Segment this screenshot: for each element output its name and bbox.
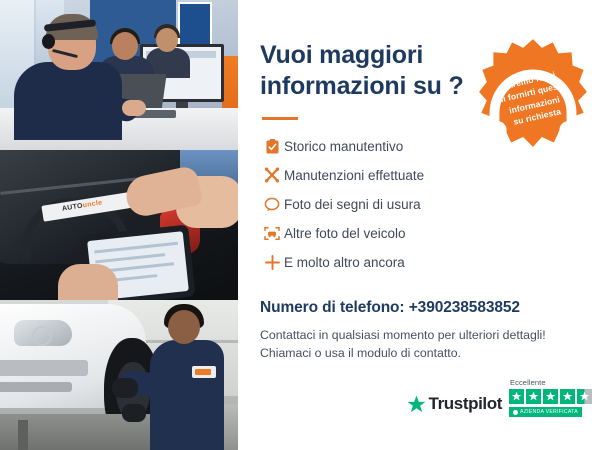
- verified-check-icon: [513, 410, 518, 415]
- phone-number[interactable]: +390238583852: [409, 299, 520, 316]
- phone-label: Numero di telefono:: [260, 299, 405, 316]
- contact-instructions: Contattaci in qualsiasi momento per ulte…: [260, 326, 578, 363]
- contact-line-2: Chiamaci o usa il modulo di contatto.: [260, 344, 578, 362]
- license-plate-inspection-photo: AUTOuncle: [0, 150, 238, 300]
- headline-line-1: Vuoi maggiori: [260, 41, 423, 69]
- star-rating: [509, 389, 592, 404]
- star-filled: [509, 389, 524, 404]
- clipboard-check-icon: [260, 136, 284, 156]
- feature-label: Foto dei segni di usura: [284, 197, 421, 212]
- verified-badge: AZIENDA VERIFICATA: [509, 407, 582, 417]
- star-filled: [560, 389, 575, 404]
- tire-service-photo: [0, 300, 238, 450]
- list-item: Foto dei segni di usura: [260, 191, 578, 217]
- wrench-cross-icon: [260, 165, 284, 185]
- contact-line-1: Contattaci in qualsiasi momento per ulte…: [260, 326, 578, 344]
- star-filled: [526, 389, 541, 404]
- feature-label: Manutenzioni effettuate: [284, 168, 424, 183]
- photo-frame-icon: [260, 223, 284, 243]
- trustpilot-star-icon: [407, 395, 426, 414]
- plate-text: AUTOuncle: [62, 199, 103, 212]
- trustpilot-logo: Trustpilot: [407, 394, 502, 417]
- list-item: Altre foto del veicolo: [260, 220, 578, 246]
- page-title: Vuoi maggiori informazioni su ?: [260, 40, 470, 101]
- photo-column: AUTOuncle: [0, 0, 238, 450]
- star-filled: [543, 389, 558, 404]
- speech-bubble-icon: [260, 194, 284, 214]
- trustpilot-widget[interactable]: Trustpilot Eccellente: [407, 378, 592, 417]
- verified-label: AZIENDA VERIFICATA: [520, 409, 578, 415]
- list-item: E molto altro ancora: [260, 249, 578, 275]
- star-half: [577, 389, 592, 404]
- feature-label: Storico manutentivo: [284, 139, 403, 154]
- rating-label: Eccellente: [510, 378, 592, 387]
- feature-label: E molto altro ancora: [284, 255, 405, 270]
- content-panel: Vuoi maggiori informazioni su ? Saremo f…: [238, 0, 600, 450]
- plus-icon: [260, 252, 284, 272]
- callout-badge: Saremo felici di fornirti queste informa…: [478, 38, 588, 148]
- trustpilot-brand: Trustpilot: [429, 394, 502, 414]
- trustpilot-rating: Eccellente: [509, 378, 592, 417]
- call-center-agents-photo: [0, 0, 238, 150]
- phone-row: Numero di telefono: +390238583852: [260, 299, 578, 317]
- title-divider: [262, 117, 298, 120]
- headline-line-2: informazioni su ?: [260, 72, 464, 100]
- feature-label: Altre foto del veicolo: [284, 226, 406, 241]
- promo-banner: AUTOuncle: [0, 0, 600, 450]
